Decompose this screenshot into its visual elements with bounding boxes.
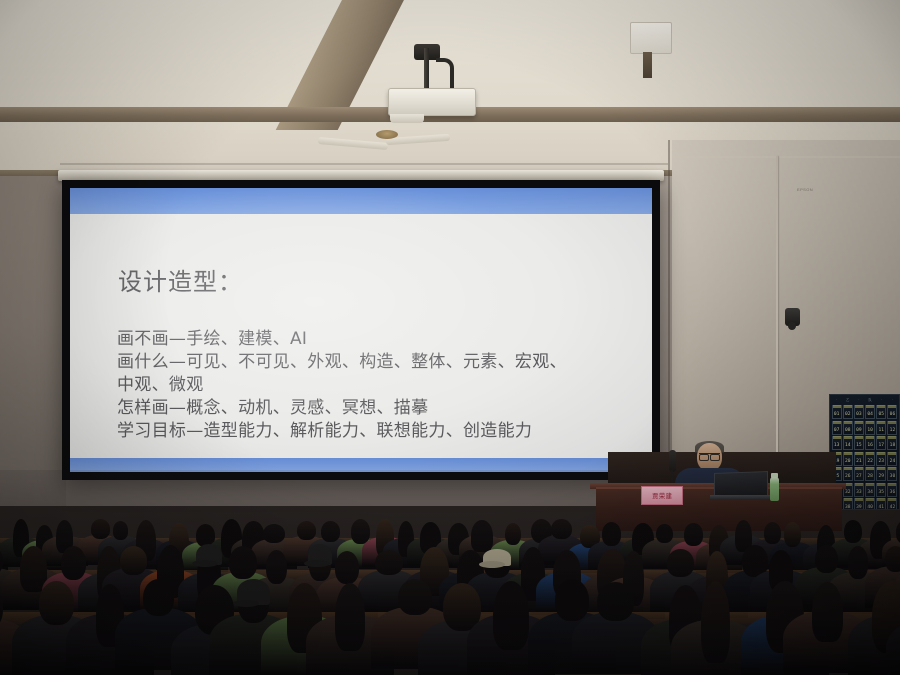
audience-member-head	[597, 582, 634, 621]
slide-line: 学习目标—造型能力、解析能力、联想能力、创造能力	[117, 420, 617, 443]
number-board-cell: 13	[832, 436, 842, 450]
projector-lens-icon	[390, 114, 424, 123]
slide-surface: 设计造型： 画不画—手绘、建模、AI 画什么—可见、不可见、外观、构造、整体、元…	[70, 188, 652, 472]
audience-member-head	[848, 546, 869, 578]
audience-member-head	[784, 522, 801, 547]
number-board-header-cell: ·	[876, 397, 887, 404]
audience-member-head	[91, 519, 110, 539]
slide-line: 怎样画—概念、动机、灵感、冥想、描摹	[117, 397, 617, 420]
number-board-header: ·乙·队··	[831, 397, 898, 404]
audience-member-head	[375, 550, 403, 576]
number-board-cell: 08	[843, 421, 853, 435]
number-board-header-cell: 队	[865, 397, 876, 404]
audience-member-cap	[483, 549, 511, 566]
number-board-row: 070809101112	[831, 421, 898, 435]
audience-member-head	[335, 551, 359, 584]
audience-member-head	[505, 523, 521, 546]
number-board-header-cell: 乙	[842, 397, 853, 404]
slide-body-text: 画不画—手绘、建模、AI 画什么—可见、不可见、外观、构造、整体、元素、宏观、 …	[117, 328, 617, 443]
audience-area	[0, 470, 900, 675]
number-board-cell: 09	[854, 421, 864, 435]
audience-member-head	[684, 523, 703, 546]
projection-screen: 设计造型： 画不画—手绘、建模、AI 画什么—可见、不可见、外观、构造、整体、元…	[62, 180, 660, 480]
ceiling-fan-hub	[376, 130, 398, 139]
number-board-row: 131415161718	[831, 436, 898, 450]
number-board-cell: 16	[865, 436, 875, 450]
audience-member-head	[885, 546, 900, 572]
audience-member-head	[39, 581, 74, 625]
audience-member-head	[61, 546, 86, 580]
audience-member-cap	[237, 579, 270, 605]
number-board-cell: 02	[843, 405, 853, 419]
wall-speaker-unit	[630, 22, 672, 54]
number-board-cell: 11	[876, 421, 886, 435]
slide-line: 画不画—手绘、建模、AI	[117, 328, 617, 351]
number-board-cell: 06	[887, 405, 897, 419]
audience-member-head	[815, 545, 839, 573]
conduit-over-screen	[60, 163, 668, 165]
audience-member-head	[555, 579, 590, 621]
lecturer-glasses-icon	[699, 453, 720, 460]
audience-member-cap	[308, 544, 331, 565]
number-board-cell: 05	[876, 405, 886, 419]
number-board-cell: 12	[887, 421, 897, 435]
audience-member-head	[667, 549, 694, 577]
number-board-cell: 04	[865, 405, 875, 419]
wall-camera-icon	[785, 308, 800, 326]
number-board-header-cell: ·	[887, 397, 898, 404]
audience-member-head	[335, 583, 365, 651]
lecture-hall-photo: EPSON 设计造型： 画不画—手绘、建模、AI 画什么—可见、不可见、外观、构…	[0, 0, 900, 675]
audience-member-head	[656, 524, 673, 543]
number-board-cell: 15	[854, 436, 864, 450]
audience-member-head	[113, 521, 129, 540]
audience-member-head	[143, 579, 174, 616]
number-board-cell: 01	[832, 405, 842, 419]
number-board-cell: 17	[876, 436, 886, 450]
conduit-horizontal	[672, 156, 900, 158]
number-board-cell: 07	[832, 421, 842, 435]
audience-member-cap	[196, 544, 222, 565]
audience-member-head	[764, 522, 781, 544]
audience-member-head	[551, 519, 572, 539]
number-board-cell: 21	[854, 452, 864, 466]
audience-member-head	[263, 524, 285, 543]
audience-member-head	[471, 520, 492, 552]
number-board-row: 192021222324	[831, 452, 898, 466]
wall-speaker-bracket	[643, 52, 652, 78]
audience-member-head	[321, 521, 340, 542]
audience-member-head	[812, 582, 843, 642]
number-board-cell: 10	[865, 421, 875, 435]
projector-brand-label: EPSON	[797, 187, 813, 192]
number-board-header-cell: ·	[853, 397, 864, 404]
number-board-row: 010203040506	[831, 405, 898, 419]
number-board-header-cell: ·	[831, 397, 842, 404]
audience-member-head	[844, 520, 862, 543]
slide-line: 画什么—可见、不可见、外观、构造、整体、元素、宏观、	[117, 351, 617, 374]
projector-mount-rod	[424, 48, 429, 88]
audience-member-head	[398, 579, 432, 615]
slide-header-band	[70, 188, 652, 214]
slide-title: 设计造型：	[118, 262, 243, 297]
slide-line: 中观、微观	[117, 374, 617, 397]
number-board-cell: 23	[876, 452, 886, 466]
audience-member-head	[493, 581, 529, 650]
number-board-cell: 22	[865, 452, 875, 466]
audience-member-head	[701, 581, 730, 663]
number-board-cell: 03	[854, 405, 864, 419]
projector-body: EPSON	[388, 88, 476, 116]
audience-member-head	[266, 550, 287, 584]
number-board-cell: 14	[843, 436, 853, 450]
microphone-icon	[669, 450, 676, 472]
audience-member-head	[602, 522, 621, 546]
number-board-cell: 24	[887, 452, 897, 466]
audience-member-head	[297, 521, 316, 540]
projector-cable-loop	[436, 58, 454, 92]
audience-member-head	[120, 546, 147, 575]
audience-member-head	[229, 546, 257, 579]
number-board-cell: 20	[843, 452, 853, 466]
wall-left-shadow	[0, 176, 66, 506]
number-board-cell: 18	[887, 436, 897, 450]
